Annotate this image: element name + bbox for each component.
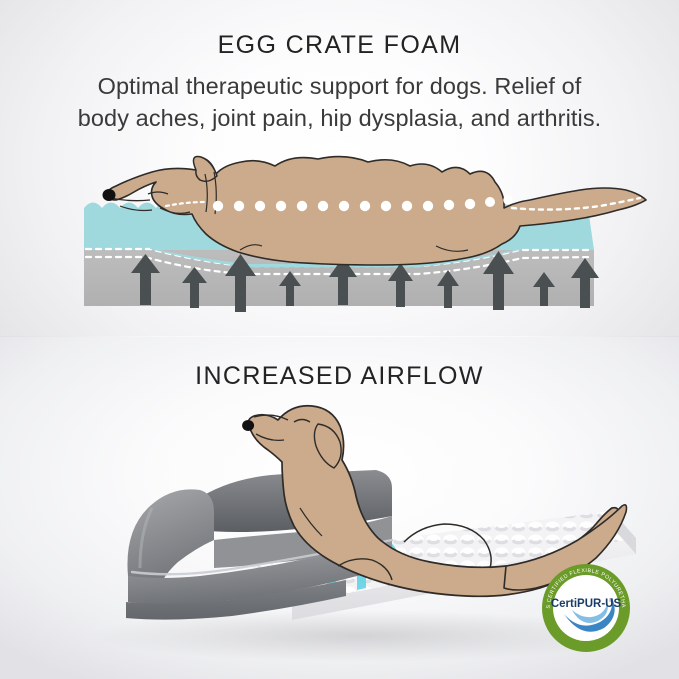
section-egg-crate-foam: EGG CRATE FOAM Optimal therapeutic suppo… [0, 0, 679, 337]
dog-nose [103, 189, 116, 201]
spine-dot [503, 195, 513, 205]
spine-dot [255, 201, 265, 211]
illustration-dog-on-foam-cross-section [0, 150, 679, 335]
spine-dot [465, 199, 475, 209]
spine-dot [485, 197, 495, 207]
spine-dot [318, 201, 328, 211]
subtitle-line-2: body aches, joint pain, hip dysplasia, a… [22, 102, 657, 134]
spine-dot [339, 201, 349, 211]
spine-dot [297, 201, 307, 211]
spine-dot [213, 201, 223, 211]
spine-dot [276, 201, 286, 211]
page-title-increased-airflow: INCREASED AIRFLOW [0, 362, 679, 391]
illustration-dog-on-bolster-bed: CONTAINS CERTIFIED FLEXIBLE POLYURETHANE… [0, 390, 679, 679]
spine-dot [381, 201, 391, 211]
subtitle-egg-crate-foam: Optimal therapeutic support for dogs. Re… [22, 70, 657, 134]
page-title-egg-crate-foam: EGG CRATE FOAM [0, 31, 679, 60]
spine-dot [234, 201, 244, 211]
cross-section-svg [0, 150, 679, 335]
spine-dot [423, 201, 433, 211]
product-infographic: EGG CRATE FOAM Optimal therapeutic suppo… [0, 0, 679, 679]
subtitle-line-1: Optimal therapeutic support for dogs. Re… [22, 70, 657, 102]
spine-dot [360, 201, 370, 211]
bolster-bed-svg: CONTAINS CERTIFIED FLEXIBLE POLYURETHANE… [0, 390, 679, 679]
spine-dot [402, 201, 412, 211]
spine-dot [444, 200, 454, 210]
dog-nose [242, 420, 254, 431]
badge-trademark: ® [609, 597, 613, 604]
certipur-us-badge: CONTAINS CERTIFIED FLEXIBLE POLYURETHANE… [542, 564, 630, 652]
